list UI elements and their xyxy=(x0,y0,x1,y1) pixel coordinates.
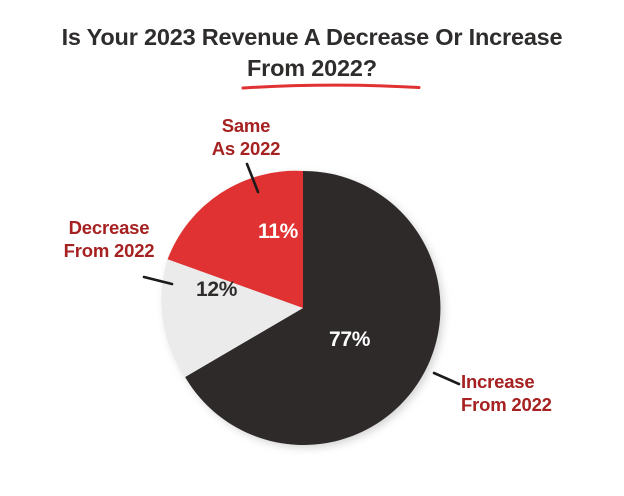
slice-label-same: Same As 2022 xyxy=(191,114,301,160)
pie-chart-infographic: Is Your 2023 Revenue A Decrease Or Incre… xyxy=(0,0,624,496)
slice-label-decrease: Decrease From 2022 xyxy=(34,216,184,262)
slice-label-decrease-line-2: From 2022 xyxy=(34,239,184,262)
slice-label-increase-line-1: Increase xyxy=(461,370,611,393)
pie-slices-group xyxy=(161,171,440,445)
slice-label-increase: Increase From 2022 xyxy=(461,370,611,416)
slice-label-same-line-2: As 2022 xyxy=(191,137,301,160)
slice-value-same: 11% xyxy=(258,220,298,244)
slice-label-same-line-1: Same xyxy=(191,114,301,137)
leader-line-increase xyxy=(434,373,459,384)
slice-label-decrease-line-1: Decrease xyxy=(34,216,184,239)
slice-value-increase: 77% xyxy=(329,328,370,352)
slice-label-increase-line-2: From 2022 xyxy=(461,393,611,416)
pie-chart: 77% 12% 11% Same As 2022 Decrease From 2… xyxy=(0,0,624,496)
slice-value-decrease: 12% xyxy=(196,278,237,302)
